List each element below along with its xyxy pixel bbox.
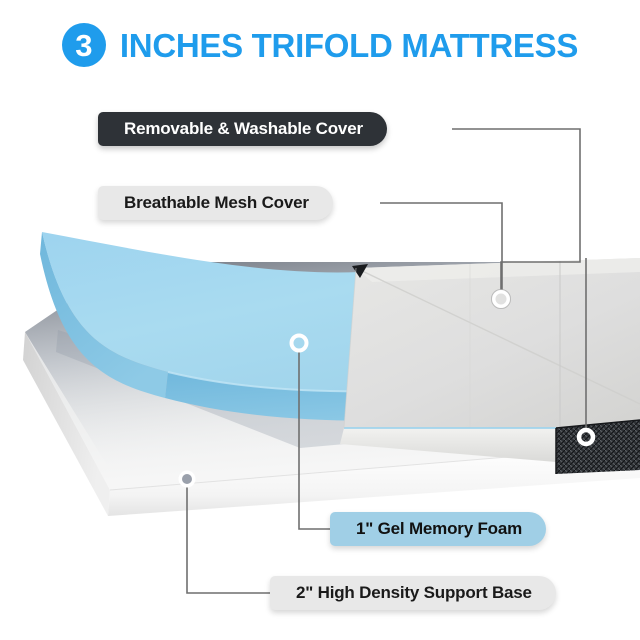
callout-label-text: 2" High Density Support Base — [296, 583, 532, 603]
marker-support-base — [182, 474, 192, 484]
removable-cover-layer — [340, 258, 640, 462]
callout-label-text: Breathable Mesh Cover — [124, 193, 309, 213]
callout-label-text: Removable & Washable Cover — [124, 119, 363, 139]
gel-memory-foam-layer — [40, 232, 640, 448]
leader-support-base — [187, 486, 270, 593]
title-text: INCHES TRIFOLD MATTRESS — [120, 29, 578, 62]
marker-removable-cover — [494, 292, 509, 307]
callout-removable-washable-cover[interactable]: Removable & Washable Cover — [98, 112, 387, 146]
mattress-illustration — [0, 0, 640, 640]
callout-markers — [179, 290, 594, 488]
inches-number-badge: 3 — [62, 23, 106, 67]
callout-label-text: 1" Gel Memory Foam — [356, 519, 522, 539]
leader-breathable-mesh — [380, 203, 502, 292]
marker-support-base-halo — [179, 471, 196, 488]
callout-high-density-support-base[interactable]: 2" High Density Support Base — [270, 576, 556, 610]
breathable-mesh-panel — [556, 420, 640, 474]
marker-gel-foam — [292, 336, 307, 351]
leader-breathable-mesh-line — [380, 203, 502, 291]
leader-removable-cover — [452, 129, 580, 292]
marker-breathable-mesh — [579, 430, 593, 444]
callout-breathable-mesh-cover[interactable]: Breathable Mesh Cover — [98, 186, 333, 220]
page-title: 3 INCHES TRIFOLD MATTRESS — [0, 14, 640, 76]
callout-leader-lines — [0, 0, 640, 640]
leader-gel-foam — [299, 352, 330, 529]
callout-gel-memory-foam[interactable]: 1" Gel Memory Foam — [330, 512, 546, 546]
support-base-layer — [23, 262, 640, 516]
infographic-canvas: 3 INCHES TRIFOLD MATTRESS — [0, 0, 640, 640]
